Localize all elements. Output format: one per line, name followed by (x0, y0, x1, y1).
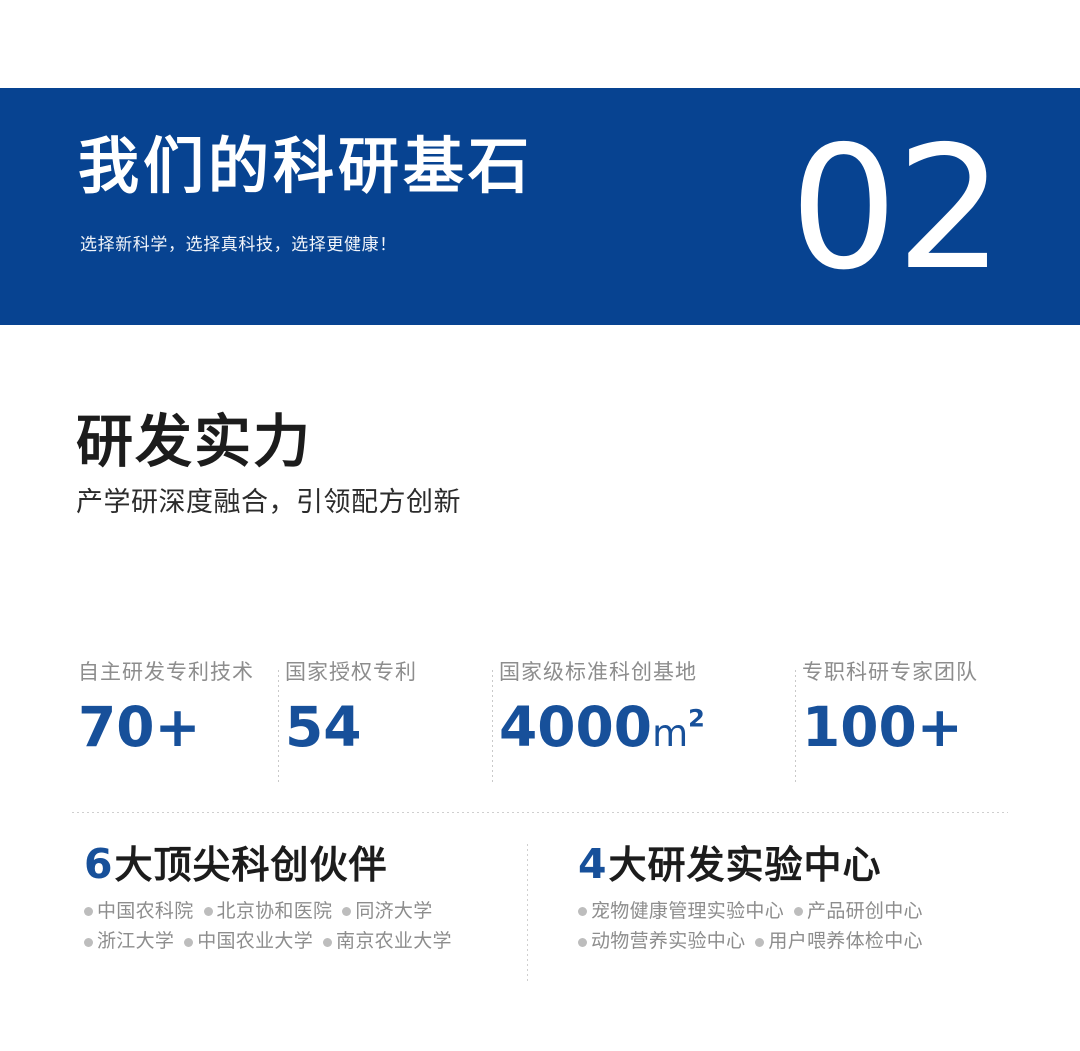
list-item-label: 中国农业大学 (197, 929, 313, 955)
bottom-blocks: 6大顶尖科创伙伴 中国农科院 北京协和医院 同济大学 浙江大学 中国农业大学 南… (72, 842, 1008, 987)
list-item: 北京协和医院 (204, 899, 333, 925)
section-banner: 我们的科研基石 选择新科学，选择真科技，选择更健康！ 02 (0, 88, 1080, 325)
bullet-dot-icon (184, 938, 193, 947)
stat-value-unit: m (652, 712, 688, 755)
bullet-dot-icon (578, 907, 587, 916)
stat-item-expert-team: 专职科研专家团队 100+ (796, 662, 1008, 757)
stats-row: 自主研发专利技术 70+ 国家授权专利 54 国家级标准科创基地 4000m2 … (72, 662, 1008, 792)
list-item-label: 浙江大学 (97, 929, 174, 955)
list-item: 中国农业大学 (184, 929, 313, 955)
list-item: 宠物健康管理实验中心 (578, 899, 784, 925)
stat-value-number: 70+ (78, 695, 201, 759)
stat-value: 54 (285, 699, 493, 757)
stat-item-authorized-patent: 国家授权专利 54 (279, 662, 493, 757)
section-subtitle: 产学研深度融合，引领配方创新 (76, 486, 876, 518)
bullet-dot-icon (794, 907, 803, 916)
stat-item-innovation-base: 国家级标准科创基地 4000m2 (493, 662, 796, 757)
bullet-dot-icon (755, 938, 764, 947)
stat-value-number: 100+ (802, 695, 963, 759)
block-partners: 6大顶尖科创伙伴 中国农科院 北京协和医院 同济大学 浙江大学 中国农业大学 南… (72, 842, 528, 987)
stat-label: 国家授权专利 (285, 662, 493, 683)
stat-value-number: 4000 (499, 695, 652, 759)
list-item: 产品研创中心 (794, 899, 923, 925)
stat-label: 国家级标准科创基地 (499, 662, 796, 683)
block-labs: 4大研发实验中心 宠物健康管理实验中心 产品研创中心 动物营养实验中心 用户喂养… (528, 842, 1008, 987)
bullet-dot-icon (84, 938, 93, 947)
list-item-label: 产品研创中心 (807, 899, 923, 925)
banner-subtitle: 选择新科学，选择真科技，选择更健康！ (80, 236, 397, 253)
block-heading-text: 大研发实验中心 (609, 845, 882, 887)
bullet-dot-icon (323, 938, 332, 947)
list-item-label: 南京农业大学 (336, 929, 452, 955)
list-item: 动物营养实验中心 (578, 929, 745, 955)
horizontal-dotted-divider (72, 812, 1008, 813)
stat-value-number: 54 (285, 695, 362, 759)
banner-section-number: 02 (790, 124, 1002, 294)
stat-item-patent-tech: 自主研发专利技术 70+ (72, 662, 279, 757)
list-item: 南京农业大学 (323, 929, 452, 955)
list-item-label: 宠物健康管理实验中心 (591, 899, 784, 925)
list-item-label: 动物营养实验中心 (591, 929, 745, 955)
stat-label: 自主研发专利技术 (78, 662, 279, 683)
list-item-label: 中国农科院 (97, 899, 194, 925)
stat-value: 4000m2 (499, 699, 796, 757)
list-item: 同济大学 (342, 899, 432, 925)
block-heading-text: 大顶尖科创伙伴 (115, 845, 388, 887)
stat-value-superscript: 2 (688, 705, 705, 733)
list-item: 用户喂养体检中心 (755, 929, 922, 955)
stat-label: 专职科研专家团队 (802, 662, 1008, 683)
top-white-strip (0, 0, 1080, 88)
section-heading-group: 研发实力 产学研深度融合，引领配方创新 (76, 412, 876, 518)
lab-list: 宠物健康管理实验中心 产品研创中心 动物营养实验中心 用户喂养体检中心 (578, 899, 973, 955)
block-heading: 4大研发实验中心 (578, 842, 1008, 888)
list-item: 浙江大学 (84, 929, 174, 955)
stat-value: 70+ (78, 699, 279, 757)
partner-list: 中国农科院 北京协和医院 同济大学 浙江大学 中国农业大学 南京农业大学 (84, 899, 484, 955)
bullet-dot-icon (204, 907, 213, 916)
bullet-dot-icon (84, 907, 93, 916)
block-count-number: 4 (578, 840, 608, 888)
list-item-label: 用户喂养体检中心 (768, 929, 922, 955)
banner-title: 我们的科研基石 (78, 136, 533, 197)
list-item-label: 同济大学 (355, 899, 432, 925)
block-heading: 6大顶尖科创伙伴 (84, 842, 528, 888)
section-title: 研发实力 (76, 412, 876, 474)
block-count-number: 6 (84, 840, 114, 888)
list-item: 中国农科院 (84, 899, 194, 925)
bullet-dot-icon (342, 907, 351, 916)
stat-value: 100+ (802, 699, 1008, 757)
bullet-dot-icon (578, 938, 587, 947)
list-item-label: 北京协和医院 (217, 899, 333, 925)
